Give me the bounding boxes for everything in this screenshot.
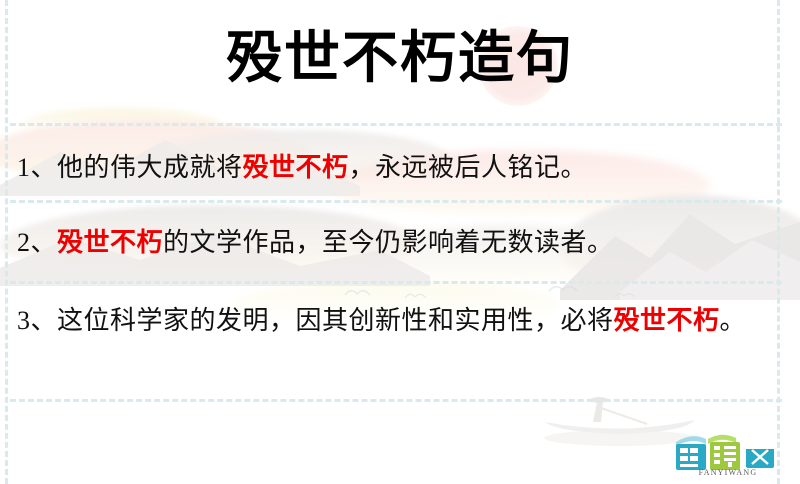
example-sentence-1: 1、他的伟大成就将殁世不朽，永远被后人铭记。 xyxy=(17,143,776,193)
idiom-highlight-2: 殁世不朽 xyxy=(57,228,163,257)
sentence-number-2: 2、 xyxy=(17,228,57,257)
idiom-highlight-3: 殁世不朽 xyxy=(614,306,720,335)
sentence-number-1: 1、 xyxy=(17,153,57,182)
logo-caption: FANYIWANG xyxy=(672,468,784,477)
idiom-highlight-1: 殁世不朽 xyxy=(243,153,349,182)
divider-dashed-2 xyxy=(10,200,782,203)
page-title: 殁世不朽造句 xyxy=(0,26,800,93)
site-logo[interactable]: FANYIWANG xyxy=(672,428,784,476)
sentence-text-after-2: 的文学作品，至今仍影响着无数读者。 xyxy=(163,228,614,257)
divider-dashed-1 xyxy=(10,123,782,126)
example-sentence-3: 3、这位科学家的发明，因其创新性和实用性，必将殁世不朽。 xyxy=(17,296,776,346)
sentence-text-before-3: 这位科学家的发明，因其创新性和实用性，必将 xyxy=(57,306,614,335)
bird-icon xyxy=(548,282,578,296)
sentence-number-3: 3、 xyxy=(17,306,57,335)
divider-dashed-4 xyxy=(10,399,782,402)
sentence-text-after-1: ，永远被后人铭记。 xyxy=(349,153,588,182)
divider-dashed-3 xyxy=(10,281,782,284)
example-sentence-2: 2、殁世不朽的文学作品，至今仍影响着无数读者。 xyxy=(17,218,776,268)
sentence-text-before-1: 他的伟大成就将 xyxy=(57,153,243,182)
page-root: 殁世不朽造句 1、他的伟大成就将殁世不朽，永远被后人铭记。 2、殁世不朽的文学作… xyxy=(0,0,800,484)
sentence-text-after-3: 。 xyxy=(720,306,747,335)
